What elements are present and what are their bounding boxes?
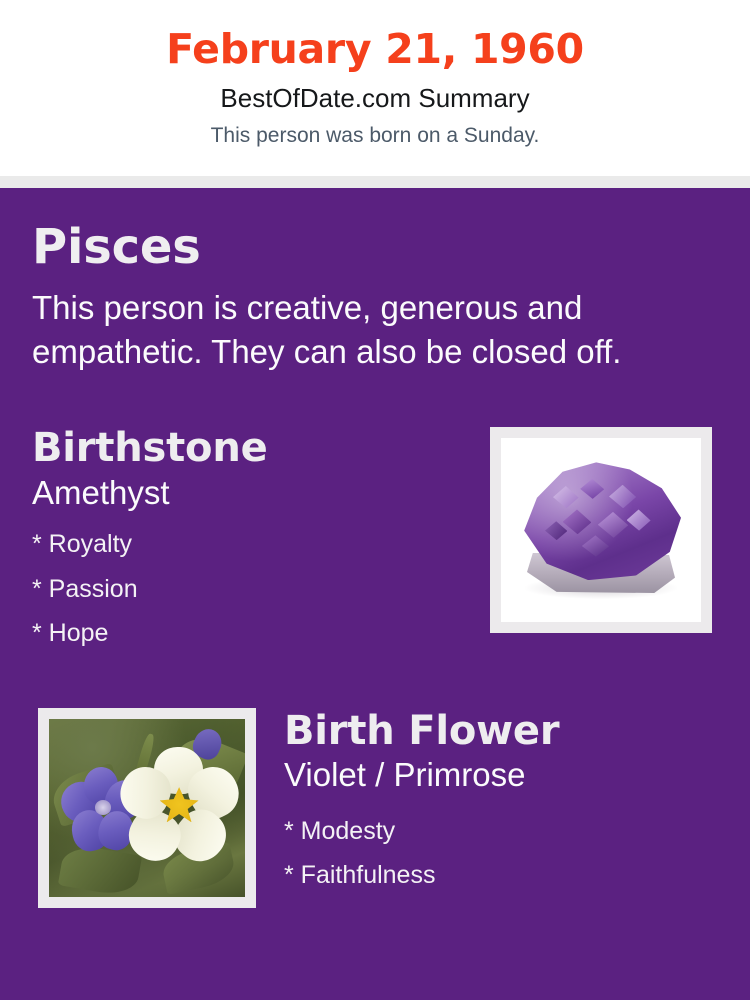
summary-page: February 21, 1960 BestOfDate.com Summary…	[0, 0, 750, 1000]
birth-day-note: This person was born on a Sunday.	[0, 121, 750, 151]
zodiac-description: This person is creative, generous and em…	[32, 286, 712, 373]
violet-primrose-icon	[49, 719, 245, 897]
birth-flower-trait-list: * Modesty * Faithfulness	[284, 809, 718, 898]
birth-flower-heading: Birth Flower	[284, 708, 718, 753]
amethyst-icon	[501, 438, 701, 622]
birthstone-image-frame	[490, 427, 712, 633]
zodiac-sign-title: Pisces	[32, 188, 718, 272]
list-item: * Modesty	[284, 809, 718, 854]
details-panel: Pisces This person is creative, generous…	[0, 188, 750, 1000]
birth-flower-name: Violet / Primrose	[284, 755, 718, 795]
birthstone-section: Birthstone Amethyst * Royalty * Passion …	[32, 427, 718, 655]
birth-flower-image-frame	[38, 708, 256, 908]
header-divider	[0, 176, 750, 188]
list-item: * Faithfulness	[284, 853, 718, 898]
site-name: BestOfDate.com Summary	[0, 79, 750, 118]
birth-flower-section: Birth Flower Violet / Primrose * Modesty…	[32, 708, 718, 908]
page-header: February 21, 1960 BestOfDate.com Summary…	[0, 0, 750, 176]
page-title-date: February 21, 1960	[0, 26, 750, 73]
